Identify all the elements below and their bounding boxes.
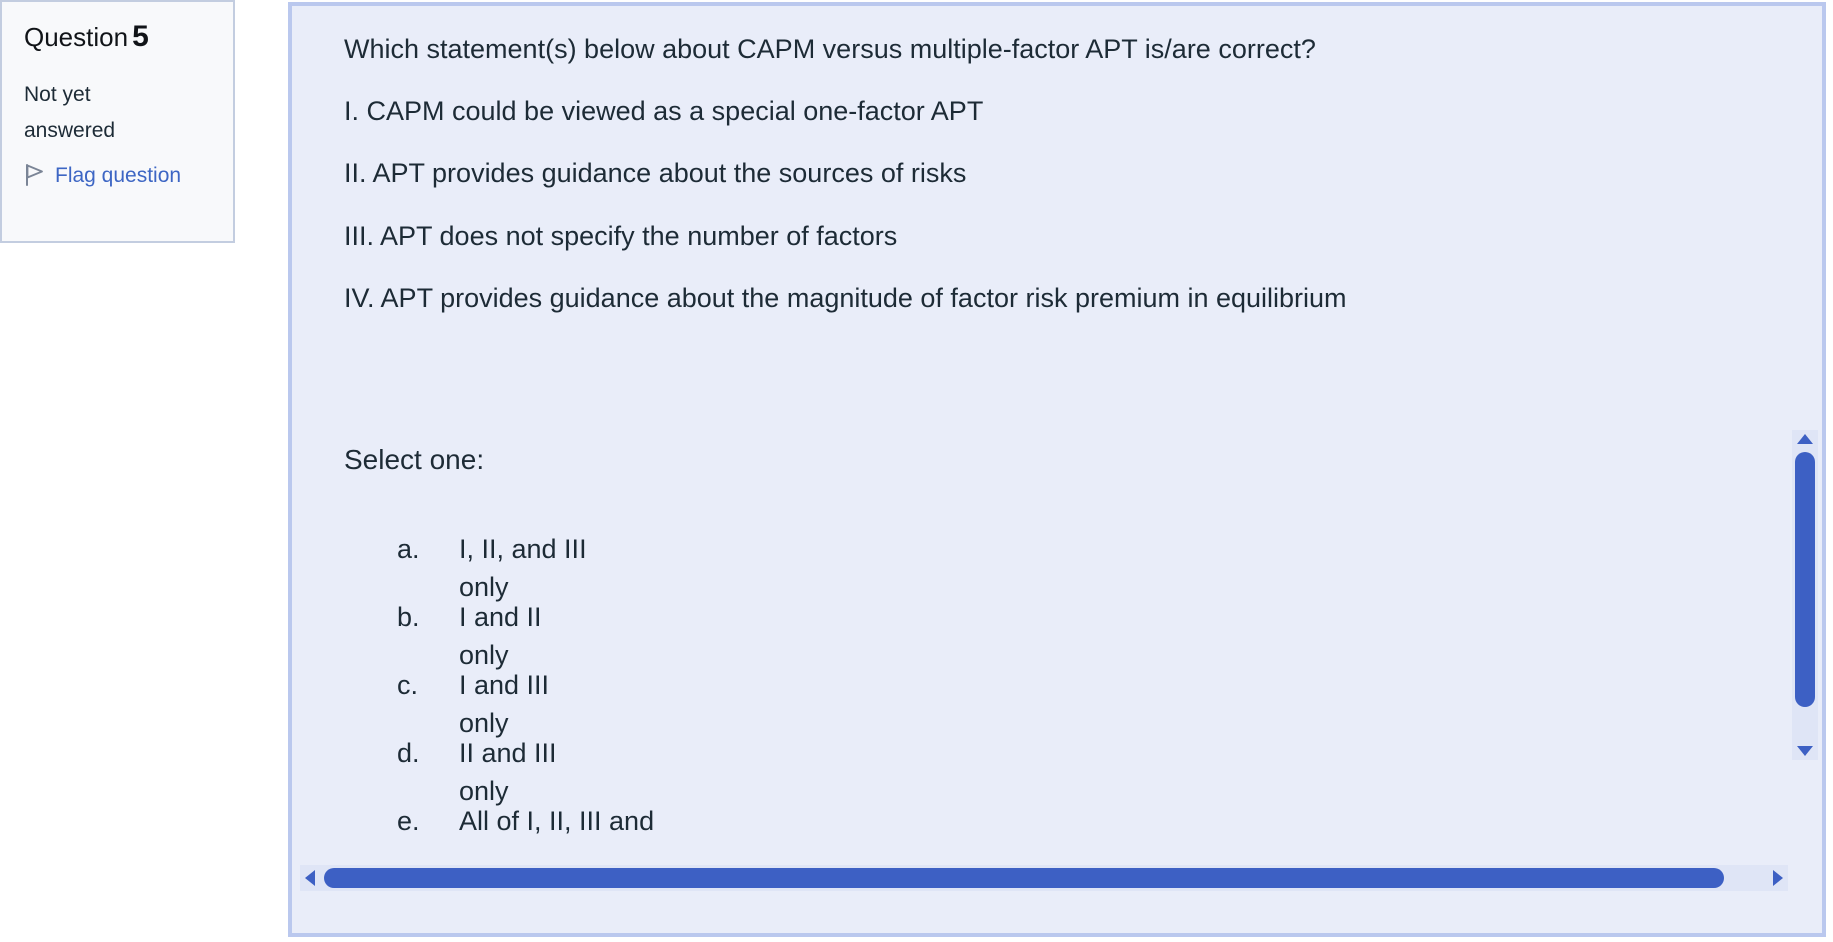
answer-option-line2: I, II, and III	[459, 536, 609, 563]
answer-option-c[interactable]: c. only I and III	[397, 642, 1397, 710]
flag-question-label: Flag question	[55, 165, 181, 186]
answer-option-text: only All of I, II, III and	[459, 778, 609, 835]
answer-option-text: I, II, and III	[459, 506, 609, 563]
answer-option-letter: a.	[397, 536, 439, 563]
answer-option-letter: c.	[397, 672, 439, 699]
scroll-down-button[interactable]	[1792, 742, 1818, 760]
answer-option-line2: All of I, II, III and	[459, 808, 609, 835]
question-number: 5	[128, 20, 149, 53]
quiz-question-page: Question5 Not yet answered Flag question…	[0, 0, 1833, 942]
question-statement-3: III. APT does not specify the number of …	[344, 221, 1782, 251]
select-one-prompt: Select one:	[344, 446, 484, 474]
triangle-right-icon	[1773, 870, 1783, 886]
question-text-area: Which statement(s) below about CAPM vers…	[344, 34, 1782, 313]
scroll-up-button[interactable]	[1792, 430, 1818, 448]
answer-option-letter: e.	[397, 808, 439, 835]
answer-option-line1: only	[459, 710, 609, 740]
answer-option-e[interactable]: e. only All of I, II, III and	[397, 778, 1397, 846]
flag-question-button[interactable]: Flag question	[24, 163, 213, 187]
answer-option-d[interactable]: d. only II and III	[397, 710, 1397, 778]
vertical-scroll-thumb[interactable]	[1795, 452, 1815, 707]
scroll-left-button[interactable]	[300, 865, 320, 891]
answer-option-a[interactable]: a. I, II, and III	[397, 506, 1397, 574]
horizontal-scroll-thumb[interactable]	[324, 868, 1724, 888]
triangle-down-icon	[1797, 746, 1813, 756]
scroll-right-button[interactable]	[1768, 865, 1788, 891]
answer-option-text: only I and III	[459, 642, 609, 699]
answer-option-letter: b.	[397, 604, 439, 631]
answer-option-line1: only	[459, 642, 609, 672]
question-info-panel: Question5 Not yet answered Flag question	[0, 0, 235, 243]
question-stem: Which statement(s) below about CAPM vers…	[344, 34, 1782, 64]
answer-option-line2: I and II	[459, 604, 609, 631]
answer-option-line1: only	[459, 574, 609, 604]
triangle-left-icon	[305, 870, 315, 886]
triangle-up-icon	[1797, 434, 1813, 444]
answer-option-letter: d.	[397, 740, 439, 767]
answer-option-text: only II and III	[459, 710, 609, 767]
answer-option-text: only I and II	[459, 574, 609, 631]
horizontal-scrollbar[interactable]	[300, 865, 1788, 891]
question-statement-2: II. APT provides guidance about the sour…	[344, 158, 1782, 188]
vertical-scrollbar[interactable]	[1792, 430, 1818, 760]
answer-options-list: a. I, II, and III b. only I and II c. on…	[397, 506, 1397, 846]
question-status: Not yet answered	[24, 77, 174, 149]
answer-option-line2: I and III	[459, 672, 609, 699]
question-statement-4: IV. APT provides guidance about the magn…	[344, 283, 1782, 313]
question-heading-label: Question	[24, 22, 128, 52]
flag-outline-icon	[24, 163, 46, 187]
answer-option-b[interactable]: b. only I and II	[397, 574, 1397, 642]
answer-option-line2: II and III	[459, 740, 609, 767]
answer-option-line1: only	[459, 778, 609, 808]
question-heading: Question5	[24, 20, 213, 53]
question-content-panel: Which statement(s) below about CAPM vers…	[288, 2, 1826, 937]
question-statement-1: I. CAPM could be viewed as a special one…	[344, 96, 1782, 126]
